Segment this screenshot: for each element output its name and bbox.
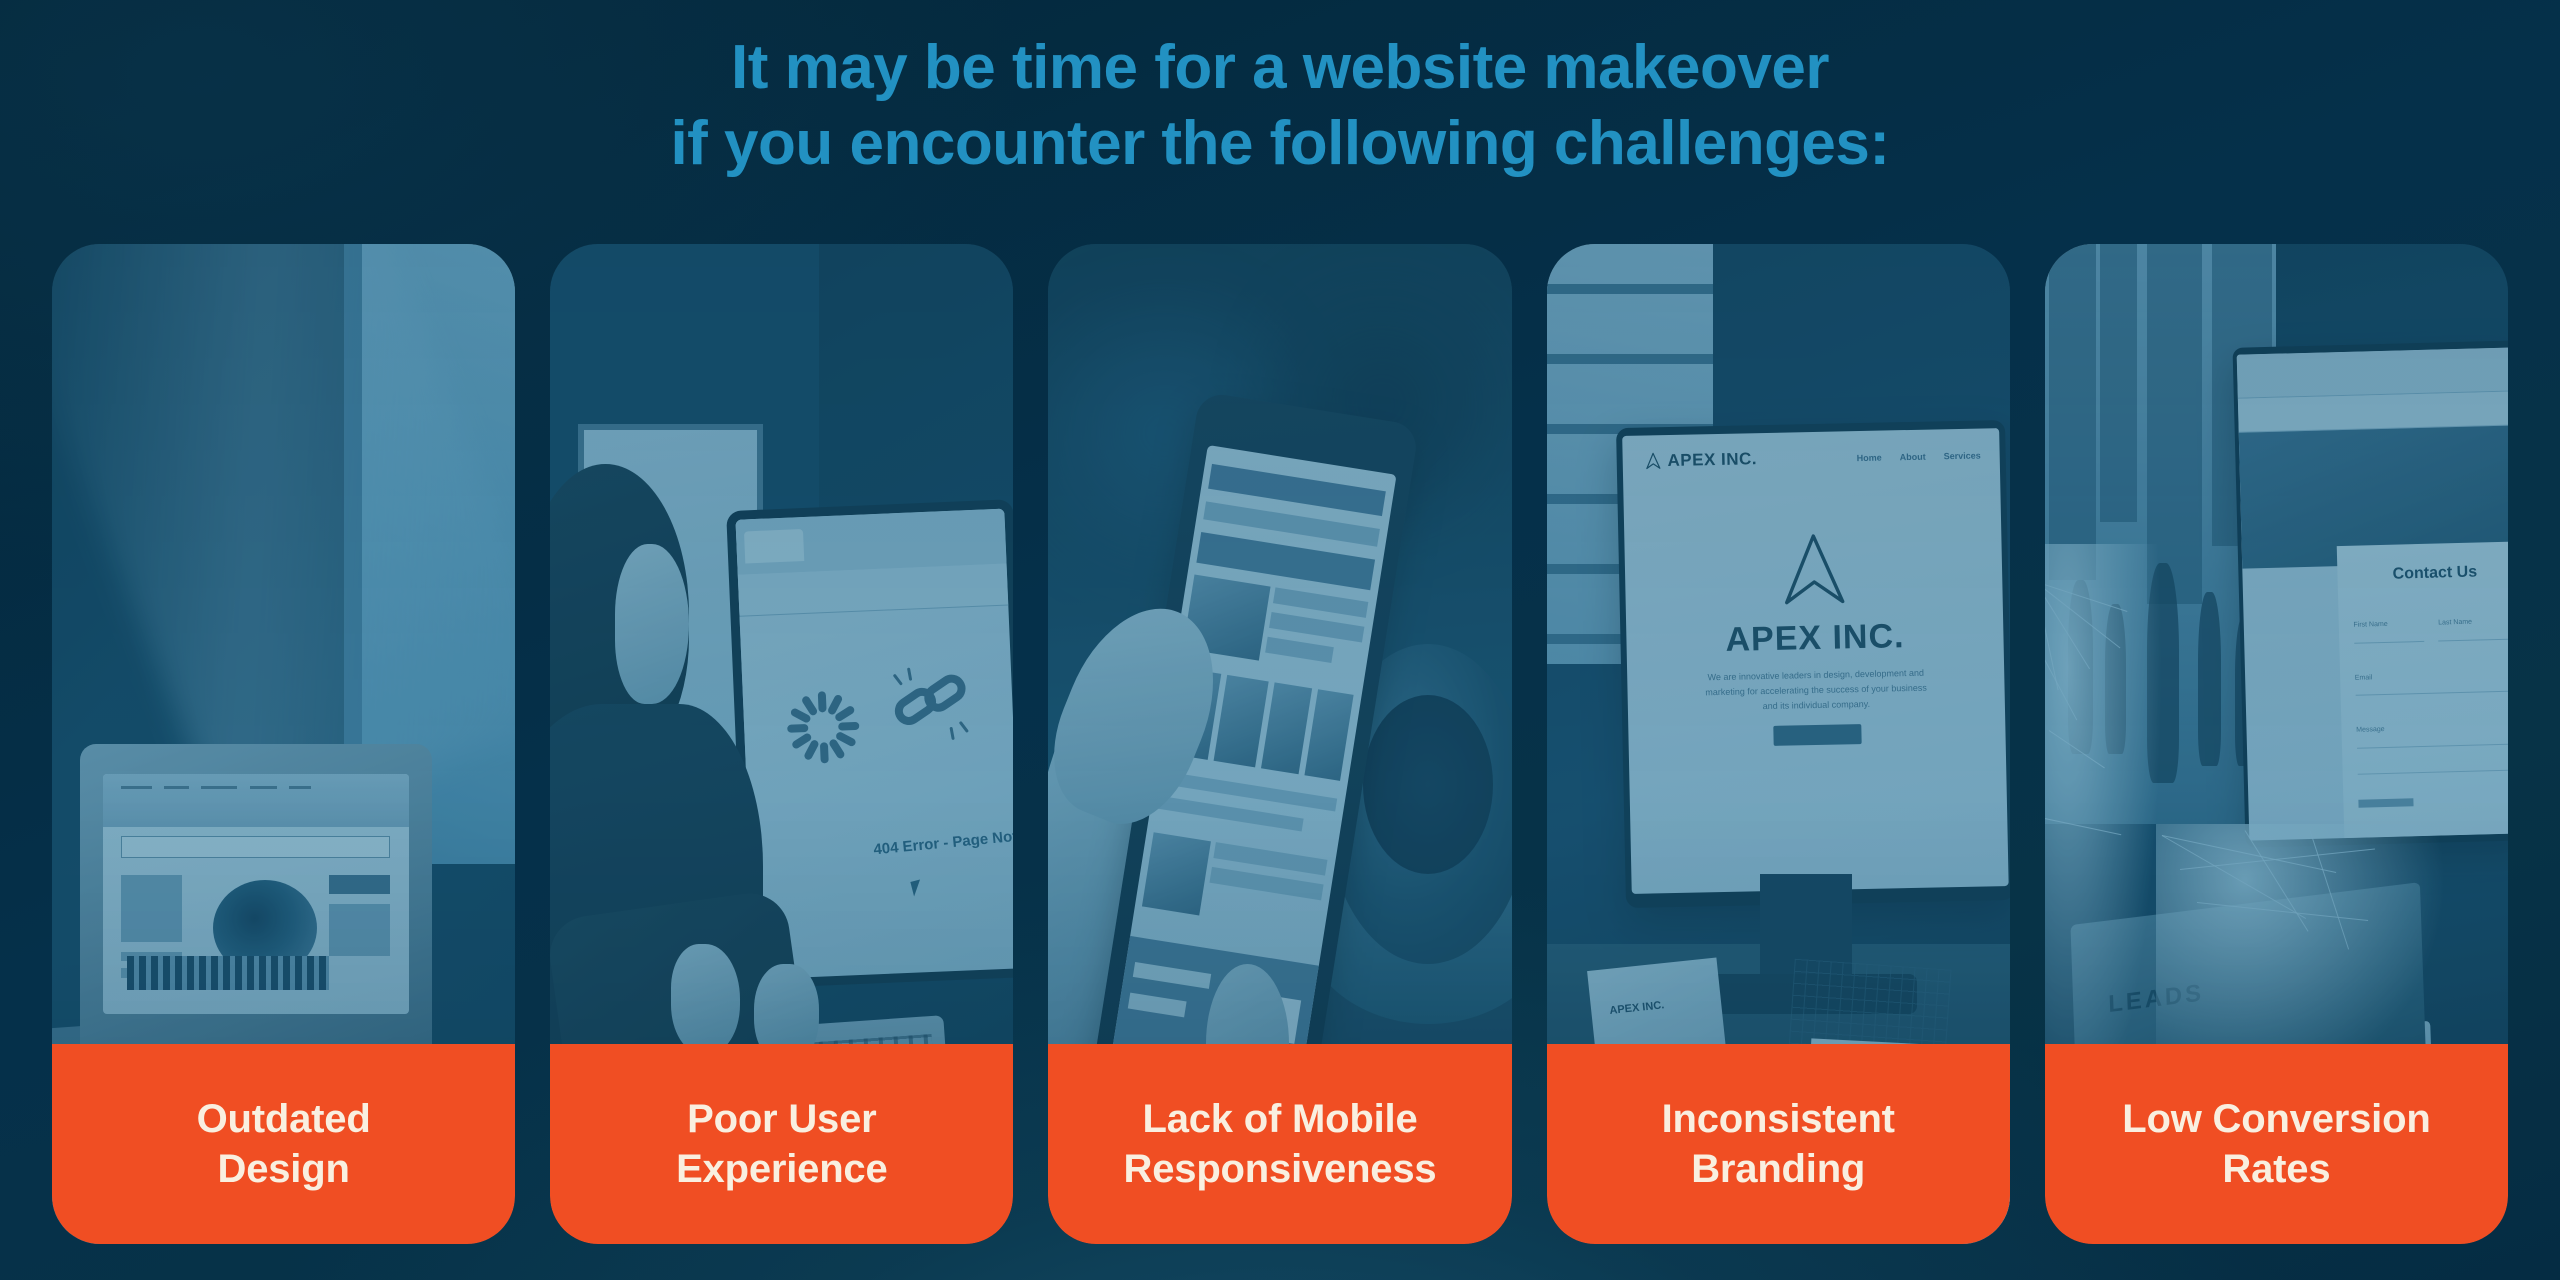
contact-form-heading: Contact Us xyxy=(2393,563,2478,583)
infographic-canvas: It may be time for a website makeover if… xyxy=(0,0,2560,1280)
headline-line-2: if you encounter the following challenge… xyxy=(0,106,2560,182)
challenge-card-lack-of-mobile-responsiveness[interactable]: Lack of MobileResponsiveness xyxy=(1048,244,1511,1244)
challenge-card-rail: OutdatedDesign xyxy=(52,244,2508,1244)
monitor-apex-site: APEX INC. Home About Services xyxy=(1616,420,2010,908)
apex-hero-body: We are innovative leaders in design, dev… xyxy=(1699,666,1933,716)
broken-link-icon xyxy=(892,675,980,735)
card-label-text: Low ConversionRates xyxy=(2094,1094,2458,1194)
apex-cta-button[interactable] xyxy=(1773,724,1861,746)
apex-website: APEX INC. Home About Services xyxy=(1622,428,2008,894)
error-message-text: 404 Error - Page Not Found xyxy=(872,823,1013,858)
card-label-text: Poor UserExperience xyxy=(648,1094,915,1194)
loading-spinner-icon xyxy=(785,690,860,765)
apex-hero-triangle-icon xyxy=(1781,532,1847,607)
card-label-text: InconsistentBranding xyxy=(1634,1094,1923,1194)
headline-line-1: It may be time for a website makeover xyxy=(0,30,2560,106)
card-label-outdated-design: OutdatedDesign xyxy=(52,1044,515,1244)
card-label-inconsistent-branding: InconsistentBranding xyxy=(1547,1044,2010,1244)
monitor-contact-form: Contact Us First Name Last Name Email Me… xyxy=(2233,340,2508,847)
field-label-first-name: First Name xyxy=(2354,621,2388,629)
mouse-cursor-icon xyxy=(910,880,923,897)
apex-logo: APEX INC. xyxy=(1645,449,1757,471)
business-card-text: APEX INC. xyxy=(1609,999,1665,1017)
apex-nav: Home About Services xyxy=(1856,450,1980,463)
card-label-mobile-responsiveness: Lack of MobileResponsiveness xyxy=(1048,1044,1511,1244)
nav-item-about[interactable]: About xyxy=(1899,451,1925,462)
challenge-card-inconsistent-branding[interactable]: APEX INC. Home About Services xyxy=(1547,244,2010,1244)
contact-form: Contact Us First Name Last Name Email Me… xyxy=(2337,542,2508,838)
challenge-card-poor-user-experience[interactable]: 404 Error - Page Not Found Poor UserE xyxy=(550,244,1013,1244)
contact-us-page: Contact Us First Name Last Name Email Me… xyxy=(2237,347,2508,840)
apex-triangle-icon xyxy=(1645,452,1660,469)
page-title: It may be time for a website makeover if… xyxy=(0,30,2560,182)
card-label-low-conversion-rates: Low ConversionRates xyxy=(2045,1044,2508,1244)
nav-item-services[interactable]: Services xyxy=(1943,450,1980,461)
apex-logo-text: APEX INC. xyxy=(1667,449,1757,471)
apex-hero-heading: APEX INC. xyxy=(1626,615,2003,662)
field-label-email: Email xyxy=(2355,674,2373,681)
challenge-card-outdated-design[interactable]: OutdatedDesign xyxy=(52,244,515,1244)
card-label-text: Lack of MobileResponsiveness xyxy=(1096,1094,1465,1194)
nav-item-home[interactable]: Home xyxy=(1856,452,1881,463)
challenge-card-low-conversion-rates[interactable]: Contact Us First Name Last Name Email Me… xyxy=(2045,244,2508,1244)
crt-screen xyxy=(103,774,409,1014)
field-label-message: Message xyxy=(2356,726,2385,734)
field-label-last-name: Last Name xyxy=(2438,619,2472,627)
card-label-text: OutdatedDesign xyxy=(169,1094,399,1194)
card-label-poor-user-experience: Poor UserExperience xyxy=(550,1044,1013,1244)
